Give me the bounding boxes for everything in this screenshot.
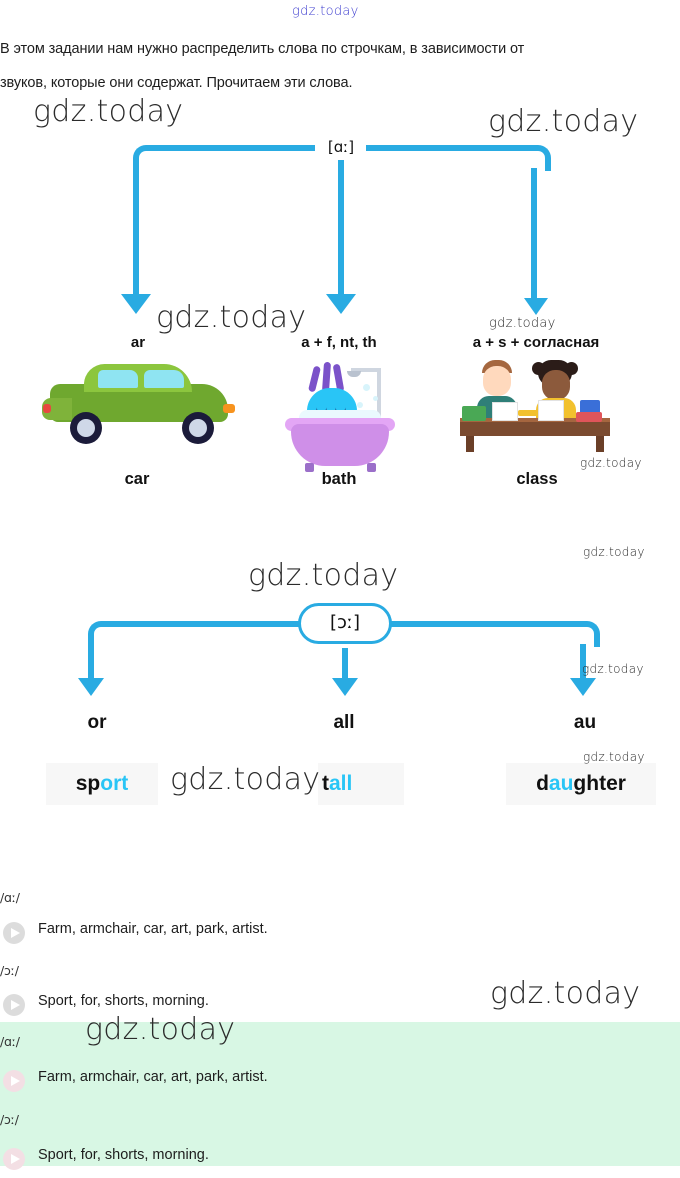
branch-label-a-s-consonant: a + s + согласная bbox=[438, 334, 634, 351]
answer-green-text-long-o: Sport, for, shorts, morning. bbox=[38, 1147, 209, 1163]
bathtub-basin bbox=[291, 424, 389, 466]
connector-o-left-horizontal bbox=[104, 621, 300, 627]
watermark-gdz-today-10: gdz.today bbox=[583, 750, 645, 764]
desk-front bbox=[460, 422, 610, 436]
car-window-front bbox=[98, 370, 138, 388]
arrow-right bbox=[524, 298, 548, 315]
bubble-2 bbox=[373, 396, 378, 401]
paper-right bbox=[538, 400, 564, 421]
branch-label-all: all bbox=[309, 712, 379, 734]
connector-o-right-vertical bbox=[580, 644, 586, 682]
branch-label-ar: ar bbox=[103, 334, 173, 351]
pencil-yellow bbox=[518, 410, 538, 416]
watermark-gdz-today-7: gdz.today bbox=[583, 545, 645, 559]
book-red bbox=[576, 412, 602, 422]
answer-green-row-long-a[interactable]: Farm, armchair, car, art, park, artist. bbox=[0, 1066, 680, 1100]
caption-bath: bath bbox=[302, 470, 376, 489]
answers-list-white: /ɑː/ Farm, armchair, car, art, park, art… bbox=[0, 885, 680, 1020]
bubble-3 bbox=[357, 402, 363, 408]
book-green bbox=[462, 406, 486, 421]
answer-text-long-o: Sport, for, shorts, morning. bbox=[38, 993, 209, 1009]
arrow-o-left bbox=[78, 678, 104, 696]
answer-green-text-long-a: Farm, armchair, car, art, park, artist. bbox=[38, 1069, 268, 1085]
paper-left bbox=[492, 402, 518, 421]
word-daughter-prefix: d bbox=[536, 772, 549, 795]
answer-text-long-a: Farm, armchair, car, art, park, artist. bbox=[38, 921, 268, 937]
word-sport-prefix: sp bbox=[76, 772, 101, 795]
watermark-gdz-today-11: gdz.today bbox=[170, 762, 320, 797]
watermark-gdz-today-9: gdz.today bbox=[582, 662, 644, 676]
classroom-kids-illustration bbox=[460, 360, 610, 460]
play-icon[interactable] bbox=[3, 994, 25, 1016]
connector-o-center-vertical bbox=[342, 648, 348, 682]
play-icon[interactable] bbox=[3, 1148, 25, 1170]
branch-label-or: or bbox=[62, 712, 132, 734]
answer-row-long-o[interactable]: Sport, for, shorts, morning. bbox=[0, 990, 680, 1024]
connector-o-right-horizontal bbox=[390, 621, 580, 627]
word-tall-highlight: all bbox=[329, 772, 352, 795]
caption-class: class bbox=[500, 470, 574, 489]
kid-girl-bun-left bbox=[532, 362, 545, 375]
car-wheel-front bbox=[70, 412, 102, 444]
car-taillight bbox=[43, 404, 51, 413]
arrow-o-center bbox=[332, 678, 358, 696]
answer-ipa-long-o: /ɔː/ bbox=[0, 963, 19, 978]
branch-label-au: au bbox=[550, 712, 620, 734]
play-icon[interactable] bbox=[3, 922, 25, 944]
arrow-o-right bbox=[570, 678, 596, 696]
watermark-gdz-today-8: gdz.today bbox=[248, 558, 398, 593]
bathtub-octopus-illustration bbox=[285, 362, 397, 474]
bubble-1 bbox=[363, 384, 370, 391]
word-chip-sport: sport bbox=[46, 763, 158, 805]
word-chip-tall: tall bbox=[318, 763, 404, 805]
octopus-tentacle-1 bbox=[308, 366, 321, 393]
caption-car: car bbox=[100, 470, 174, 489]
phoneme-node-long-o: [ɔː] bbox=[298, 603, 392, 644]
diagram-long-o: [ɔː] or all au sport tall daughter bbox=[0, 0, 680, 300]
kid-girl-bun-right bbox=[565, 362, 578, 375]
branch-label-a-f-nt-th: a + f, nt, th bbox=[277, 334, 401, 351]
answer-ipa-long-a: /ɑː/ bbox=[0, 890, 20, 905]
answer-row-long-a[interactable]: Farm, armchair, car, art, park, artist. bbox=[0, 918, 680, 952]
connector-o-corner-right bbox=[574, 621, 600, 647]
word-daughter-highlight: au bbox=[549, 772, 574, 795]
answers-list-green: /ɑː/ Farm, armchair, car, art, park, art… bbox=[0, 1022, 680, 1166]
car-illustration bbox=[42, 362, 238, 452]
answer-green-ipa-long-o: /ɔː/ bbox=[0, 1112, 19, 1127]
desk-leg-right bbox=[596, 436, 604, 452]
desk-leg-left bbox=[466, 436, 474, 452]
car-window-rear bbox=[144, 370, 184, 388]
word-tall-prefix: t bbox=[322, 772, 329, 795]
play-icon[interactable] bbox=[3, 1070, 25, 1092]
answer-green-row-long-o[interactable]: Sport, for, shorts, morning. bbox=[0, 1144, 680, 1178]
shower-head bbox=[347, 371, 361, 377]
kid-boy-head bbox=[483, 366, 511, 396]
connector-o-left-vertical bbox=[88, 644, 94, 682]
car-headlight bbox=[223, 404, 235, 413]
car-wheel-rear bbox=[182, 412, 214, 444]
word-chip-daughter: daughter bbox=[506, 763, 656, 805]
kid-girl-head bbox=[542, 370, 570, 400]
word-sport-highlight: ort bbox=[100, 772, 128, 795]
word-daughter-suffix: ghter bbox=[573, 772, 626, 795]
answer-green-ipa-long-a: /ɑː/ bbox=[0, 1034, 20, 1049]
